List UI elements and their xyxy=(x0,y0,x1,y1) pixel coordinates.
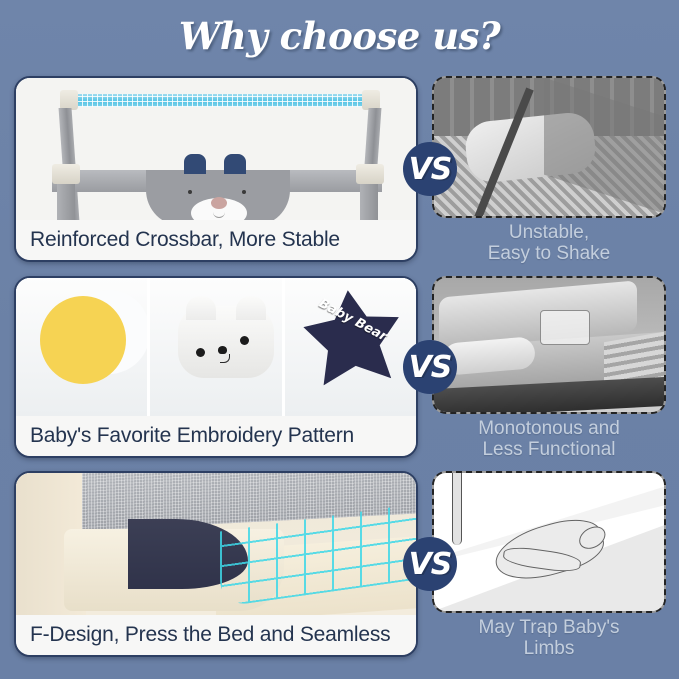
bad-caption-1: Unstable, Easy to Shake xyxy=(432,218,666,264)
good-panel-1: Reinforced Crossbar, More Stable xyxy=(14,76,418,262)
patch-bear-mouth-icon xyxy=(220,354,230,363)
bear-eye-right-icon xyxy=(242,190,246,194)
vs-badge-label: VS xyxy=(409,547,452,582)
good-illustration-2: Baby Bear xyxy=(16,278,416,416)
bad-caption-3: May Trap Baby's Limbs xyxy=(432,613,666,659)
bad-caption-2-line-2: Less Functional xyxy=(432,439,666,460)
good-illustration-3 xyxy=(16,473,416,615)
plain-rail-photo xyxy=(434,278,664,412)
bad-caption-1-line-2: Easy to Shake xyxy=(432,243,666,264)
bad-panel-2: Monotonous and Less Functional xyxy=(432,276,666,458)
bad-caption-2-line-1: Monotonous and xyxy=(432,418,666,439)
vs-badge-3: VS xyxy=(403,537,457,591)
crossbar-cap-right xyxy=(362,90,380,110)
bear-ear-right-icon xyxy=(224,154,246,174)
embroidery-patches: Baby Bear xyxy=(16,278,416,416)
patch-bear-eye-right-icon xyxy=(240,336,249,345)
comparison-row-1: Reinforced Crossbar, More Stable VS Unst… xyxy=(0,76,679,262)
good-caption-2: Baby's Favorite Embroidery Pattern xyxy=(16,416,416,456)
unstable-bed-photo xyxy=(434,78,664,216)
moon-patch-icon xyxy=(40,296,126,384)
comparison-row-2: Baby Bear Baby's Favorite Embroidery Pat… xyxy=(0,276,679,458)
crossbar-mesh xyxy=(72,94,364,107)
rail-foot-left xyxy=(57,184,75,220)
patch-cell-star: Baby Bear xyxy=(285,278,416,416)
comparison-row-3: F-Design, Press the Bed and Seamless VS xyxy=(0,471,679,657)
patch-bear-eye-left-icon xyxy=(196,348,205,357)
rail-joint-left xyxy=(52,164,80,184)
bear-ear-left-icon xyxy=(184,154,206,174)
bad-caption-3-line-1: May Trap Baby's xyxy=(432,617,666,638)
bad-illustration-3 xyxy=(432,471,666,613)
vs-badge-label: VS xyxy=(409,152,452,187)
bad-panel-1: Unstable, Easy to Shake xyxy=(432,76,666,262)
good-panel-2: Baby Bear Baby's Favorite Embroidery Pat… xyxy=(14,276,418,458)
bad-illustration-1 xyxy=(432,76,666,218)
vs-badge-1: VS xyxy=(403,142,457,196)
star-patch-icon xyxy=(298,285,408,395)
vs-badge-label: VS xyxy=(409,350,452,385)
good-caption-3: F-Design, Press the Bed and Seamless xyxy=(16,615,416,655)
page-title: Why choose us? xyxy=(0,14,679,58)
bad-caption-3-line-2: Limbs xyxy=(432,638,666,659)
rail-pocket xyxy=(540,310,591,345)
rail-foot-right xyxy=(360,184,378,220)
vs-badge-2: VS xyxy=(403,340,457,394)
rail-joint-right xyxy=(356,164,384,184)
good-panel-3: F-Design, Press the Bed and Seamless xyxy=(14,471,418,657)
patch-cell-moon xyxy=(16,278,150,416)
good-caption-1: Reinforced Crossbar, More Stable xyxy=(16,220,416,260)
patch-cell-bear xyxy=(150,278,284,416)
crossbar-cap-left xyxy=(60,90,78,110)
rail-post xyxy=(452,473,462,545)
bad-caption-2: Monotonous and Less Functional xyxy=(432,414,666,460)
patch-bear-nose-icon xyxy=(218,346,227,354)
bear-face-patch-icon xyxy=(178,306,274,378)
good-illustration-1 xyxy=(16,78,416,220)
bad-caption-1-line-1: Unstable, xyxy=(432,222,666,243)
f-design-illustration xyxy=(16,473,416,615)
bed-rail-illustration xyxy=(16,78,416,220)
trapped-limb-illustration xyxy=(434,473,664,611)
bad-illustration-2 xyxy=(432,276,666,414)
infographic-root: Why choose us? xyxy=(0,0,679,679)
bear-eye-left-icon xyxy=(188,190,192,194)
bad-panel-3: May Trap Baby's Limbs xyxy=(432,471,666,657)
